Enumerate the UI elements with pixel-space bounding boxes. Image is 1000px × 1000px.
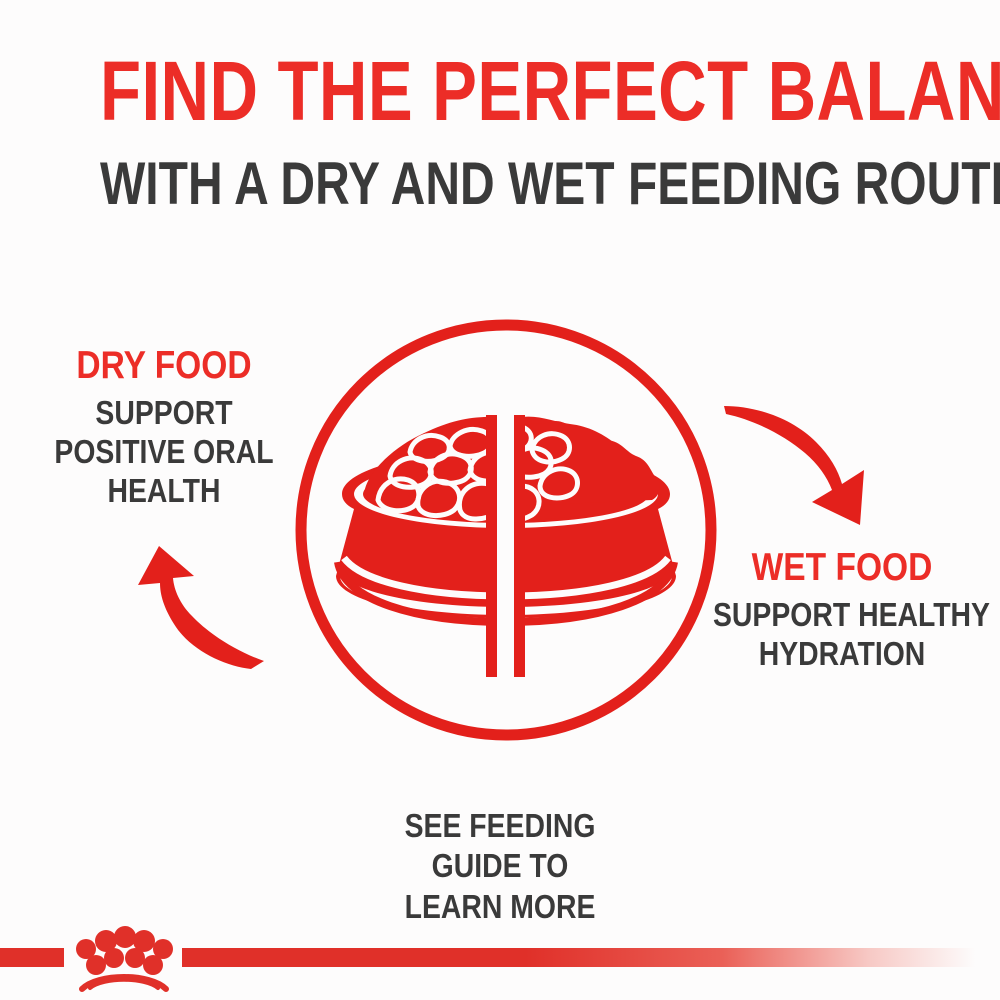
royal-canin-crown-icon	[64, 922, 184, 994]
wet-food-line-1: SUPPORT HEALTHY	[713, 596, 971, 635]
footer-brand-bar	[0, 904, 1000, 1000]
wet-food-title: WET FOOD	[713, 548, 971, 587]
bowl-divider-line-left	[486, 415, 497, 677]
footer-rule-right	[182, 948, 1000, 967]
dry-food-line-2: POSITIVE ORAL	[35, 433, 293, 472]
dry-food-line-3: HEALTH	[35, 472, 293, 511]
poster-canvas: FIND THE PERFECT BALANCE WITH A DRY AND …	[0, 0, 1000, 1000]
wet-food-line-2: HYDRATION	[713, 635, 971, 674]
bowl-divider-line-right	[514, 415, 525, 677]
footer-rule-left	[0, 948, 64, 967]
caption-line-2: GUIDE TO	[70, 846, 930, 886]
page-subtitle: WITH A DRY AND WET FEEDING ROUTINE	[100, 154, 900, 214]
dry-food-panel: DRY FOOD SUPPORT POSITIVE ORAL HEALTH	[14, 346, 314, 511]
dry-food-description: SUPPORT POSITIVE ORAL HEALTH	[35, 394, 293, 511]
split-pet-food-bowl-icon	[278, 300, 738, 760]
dry-food-line-1: SUPPORT	[35, 394, 293, 433]
header-block: FIND THE PERFECT BALANCE WITH A DRY AND …	[0, 52, 1000, 214]
wet-food-description: SUPPORT HEALTHY HYDRATION	[713, 596, 971, 674]
caption-line-1: SEE FEEDING	[70, 806, 930, 846]
page-title: FIND THE PERFECT BALANCE	[100, 52, 900, 132]
dry-food-title: DRY FOOD	[35, 346, 293, 385]
